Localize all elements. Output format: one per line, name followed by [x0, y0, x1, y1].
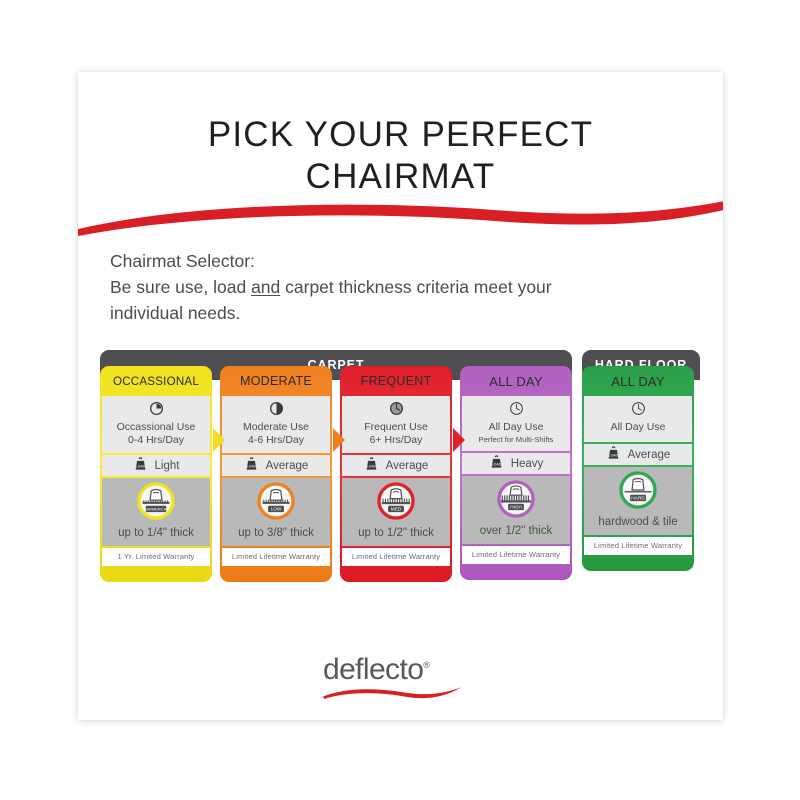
use-line-1: Occassional Use	[105, 421, 207, 434]
hard-floor-icon: HARD	[619, 496, 657, 513]
use-line-2: 4-6 Hrs/Day	[225, 434, 327, 447]
load-cell: LOAD Heavy	[462, 453, 570, 474]
arrow-moderate-to-frequent-icon	[333, 428, 345, 452]
carpet-pile-med-icon: MED	[377, 507, 415, 524]
logo-swoosh-icon	[321, 684, 481, 700]
load-weight-icon: LOAD	[244, 457, 259, 474]
use-cell: Occassional Use 0-4 Hrs/Day	[102, 396, 210, 453]
svg-text:LOAD: LOAD	[609, 453, 619, 457]
red-swoosh-divider	[78, 196, 723, 238]
deflecto-wordmark-text: deflecto	[323, 653, 423, 686]
clock-half-icon	[269, 403, 284, 420]
warranty-cell: Limited Lifetime Warranty	[462, 546, 570, 564]
deflecto-logo: deflecto®	[321, 650, 481, 698]
carpet-pile-high-icon: HIGH	[497, 505, 535, 522]
clock-quarter-icon	[149, 403, 164, 420]
carpet-pile-low-icon: LOW	[257, 507, 295, 524]
load-label: Average	[266, 460, 309, 472]
load-cell: LOAD Average	[342, 455, 450, 476]
load-weight-icon: LOAD	[364, 457, 379, 474]
svg-text:LOAD: LOAD	[492, 462, 502, 466]
clock-empty-icon	[509, 403, 524, 420]
intro-line-2: Be sure use, load and carpet thickness c…	[110, 274, 700, 300]
carpet-pile-commercial-icon: COMMERCIAL	[137, 507, 175, 524]
intro-line-1: Chairmat Selector:	[110, 248, 700, 274]
intro-copy: Chairmat Selector: Be sure use, load and…	[110, 248, 700, 326]
selector-column-all-day-hard-floor[interactable]: ALL DAY All Day Use LOAD Average	[582, 366, 694, 571]
load-weight-icon: LOAD	[133, 457, 148, 474]
thickness-cell: LOW up to 3/8" thick	[222, 478, 330, 546]
use-line-1: All Day Use	[465, 421, 567, 434]
selector-column-all-day-carpet[interactable]: ALL DAY All Day Use Perfect for Multi-Sh…	[460, 366, 572, 580]
selector-column-moderate[interactable]: MODERATE Moderate Use 4-6 Hrs/Day LOAD A…	[220, 366, 332, 582]
intro-emphasis-and: and	[251, 277, 280, 297]
selector-column-frequent[interactable]: FREQUENT Frequent Use 6+ Hrs/Day LOAD Av…	[340, 366, 452, 582]
use-line-1: All Day Use	[587, 421, 689, 434]
load-cell: LOAD Average	[584, 444, 692, 465]
load-label: Average	[386, 460, 429, 472]
load-weight-icon: LOAD	[606, 446, 621, 463]
selector-column-occassional[interactable]: OCCASSIONAL Occassional Use 0-4 Hrs/Day …	[100, 366, 212, 582]
thickness-label: up to 1/2" thick	[345, 526, 447, 541]
column-title: ALL DAY	[460, 366, 572, 396]
thickness-label: up to 3/8" thick	[225, 526, 327, 541]
svg-text:COMMERCIAL: COMMERCIAL	[142, 507, 170, 512]
warranty-cell: Limited Lifetime Warranty	[342, 548, 450, 566]
svg-text:LOAD: LOAD	[367, 464, 377, 468]
intro-line-3: individual needs.	[110, 300, 700, 326]
use-line-2: 6+ Hrs/Day	[345, 434, 447, 447]
thickness-cell: COMMERCIAL up to 1/4" thick	[102, 478, 210, 546]
use-cell: Moderate Use 4-6 Hrs/Day	[222, 396, 330, 453]
intro-line-2-b: carpet thickness criteria meet your	[280, 277, 551, 297]
column-title: OCCASSIONAL	[100, 366, 212, 396]
load-label: Heavy	[511, 458, 544, 470]
use-line-1: Moderate Use	[225, 421, 327, 434]
svg-text:HIGH: HIGH	[510, 505, 522, 511]
use-line-2: 0-4 Hrs/Day	[105, 434, 207, 447]
svg-text:LOAD: LOAD	[247, 464, 257, 468]
svg-text:LOW: LOW	[271, 507, 282, 513]
use-cell: Frequent Use 6+ Hrs/Day	[342, 396, 450, 453]
deflecto-wordmark: deflecto®	[321, 650, 481, 685]
clock-empty-icon	[631, 403, 646, 420]
column-title: ALL DAY	[582, 366, 694, 396]
thickness-label: over 1/2" thick	[465, 524, 567, 539]
page-title-line1: PICK YOUR PERFECT	[208, 115, 593, 154]
use-cell: All Day Use	[584, 396, 692, 442]
page-title: PICK YOUR PERFECT CHAIRMAT	[78, 114, 723, 198]
intro-line-2-a: Be sure use, load	[110, 277, 251, 297]
load-label: Light	[155, 460, 180, 472]
poster-canvas: PICK YOUR PERFECT CHAIRMAT Chairmat Sele…	[0, 0, 800, 800]
chairmat-selector-chart: CARPET HARD FLOOR OCCASSIONAL Occassiona…	[100, 350, 700, 608]
use-line-1: Frequent Use	[345, 421, 447, 434]
svg-text:HARD: HARD	[631, 496, 645, 502]
thickness-label: hardwood & tile	[587, 515, 689, 530]
column-title: MODERATE	[220, 366, 332, 396]
warranty-cell: Limited Lifetime Warranty	[584, 537, 692, 555]
svg-text:LOAD: LOAD	[135, 464, 145, 468]
load-weight-icon: LOAD	[489, 455, 504, 472]
arrow-occassional-to-moderate-icon	[213, 428, 225, 452]
thickness-cell: HIGH over 1/2" thick	[462, 476, 570, 544]
registered-mark: ®	[423, 660, 429, 670]
warranty-cell: Limited Lifetime Warranty	[222, 548, 330, 566]
use-sub: Perfect for Multi-Shifts	[465, 434, 567, 445]
load-cell: LOAD Light	[102, 455, 210, 476]
page-title-line2: CHAIRMAT	[78, 156, 723, 198]
load-cell: LOAD Average	[222, 455, 330, 476]
product-info-card: PICK YOUR PERFECT CHAIRMAT Chairmat Sele…	[78, 72, 723, 720]
warranty-cell: 1 Yr. Limited Warranty	[102, 548, 210, 566]
column-title: FREQUENT	[340, 366, 452, 396]
thickness-label: up to 1/4" thick	[105, 526, 207, 541]
thickness-cell: HARD hardwood & tile	[584, 467, 692, 535]
clock-full-icon	[389, 403, 404, 420]
thickness-cell: MED up to 1/2" thick	[342, 478, 450, 546]
load-label: Average	[628, 449, 671, 461]
arrow-frequent-to-all-day-icon	[453, 428, 465, 452]
use-cell: All Day Use Perfect for Multi-Shifts	[462, 396, 570, 451]
svg-text:MED: MED	[391, 507, 402, 513]
